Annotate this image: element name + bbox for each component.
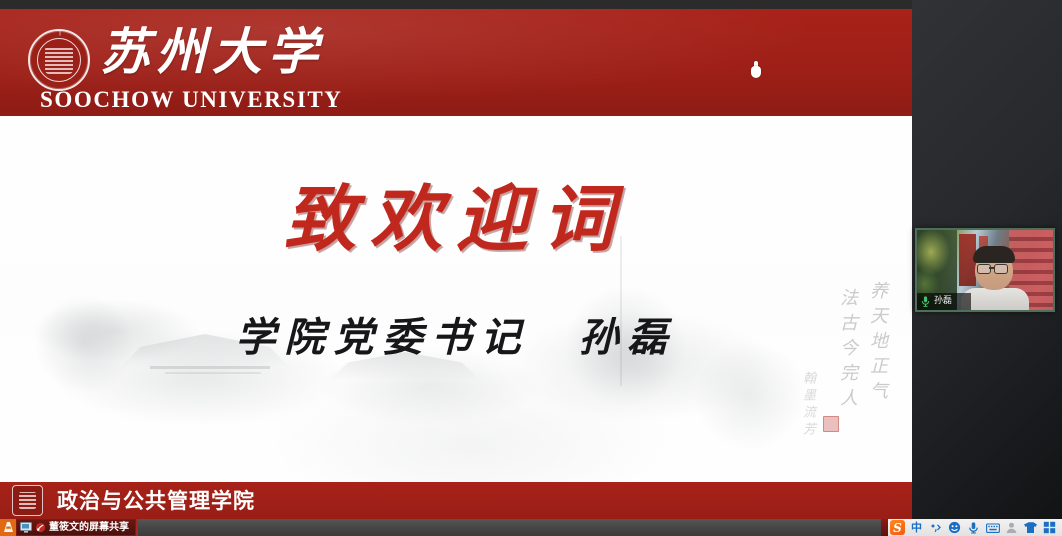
slide-subtitle: 学院党委书记 孙磊 <box>0 312 912 364</box>
user-account-icon[interactable] <box>1002 519 1021 536</box>
university-seal-icon <box>28 29 90 91</box>
eyeglasses-bridge <box>989 267 994 269</box>
participant-name: 孙磊 <box>934 296 952 307</box>
sogou-input-toolbar[interactable]: S 中 <box>888 519 1062 536</box>
sogou-s-logo-icon[interactable]: S <box>888 519 907 536</box>
ink-bridge-line-2 <box>165 372 261 374</box>
hand-pointer-cursor <box>750 61 762 79</box>
ink-bridge-line <box>150 366 270 369</box>
slide-title: 致欢迎词 <box>0 176 912 262</box>
screen-share-meeting-window: 苏州大学 SOOCHOW UNIVERSITY 养天地正气 法古今完人 翰墨流芳… <box>0 0 1062 536</box>
seal-core-glyphs <box>45 46 73 74</box>
slide-footer-band: 政治与公共管理学院 <box>0 482 912 519</box>
tray-left-edge <box>881 519 888 536</box>
eyeglasses-right-lens-icon <box>994 264 1008 274</box>
shared-slide[interactable]: 苏州大学 SOOCHOW UNIVERSITY 养天地正气 法古今完人 翰墨流芳… <box>0 9 912 519</box>
punctuation-mode-icon[interactable] <box>926 519 945 536</box>
microphone-icon <box>920 295 931 308</box>
participant-video-tile[interactable]: 孙磊 <box>915 228 1055 312</box>
eyeglasses-left-lens-icon <box>977 264 991 274</box>
soft-keyboard-icon[interactable] <box>983 519 1002 536</box>
participant-name-chip: 孙磊 <box>917 293 971 310</box>
taskbar-empty-area[interactable] <box>138 519 881 536</box>
college-seal-core <box>19 492 36 509</box>
slide-header-band: 苏州大学 SOOCHOW UNIVERSITY <box>0 9 912 116</box>
taskbar-button-label: 董筱文的屏幕共享 <box>49 522 129 534</box>
vlc-cone-icon[interactable] <box>0 519 16 536</box>
voice-input-icon[interactable] <box>964 519 983 536</box>
toolbox-grid-icon[interactable] <box>1040 519 1059 536</box>
skin-theme-icon[interactable] <box>1021 519 1040 536</box>
windows-taskbar[interactable]: 董筱文的屏幕共享 S 中 <box>0 519 1062 536</box>
emoji-icon[interactable] <box>945 519 964 536</box>
university-english-name: SOOCHOW UNIVERSITY <box>40 87 343 113</box>
taskbar-left-group: 董筱文的屏幕共享 <box>0 519 138 536</box>
red-seal-stamp-icon <box>823 416 839 432</box>
motto-signature: 翰墨流芳 <box>794 371 820 439</box>
chinese-mode-icon[interactable]: 中 <box>907 519 926 536</box>
cursor-palm <box>751 66 761 78</box>
college-name: 政治与公共管理学院 <box>57 488 255 514</box>
slide-body: 养天地正气 法古今完人 翰墨流芳 致欢迎词 学院党委书记 孙磊 <box>0 116 912 482</box>
video-person-torso <box>961 288 1029 312</box>
taskbar-button-screen-share[interactable]: 董筱文的屏幕共享 <box>16 519 136 536</box>
top-edge-strip <box>0 0 912 9</box>
sogou-s-glyph: S <box>890 520 905 535</box>
college-seal-icon <box>12 485 43 516</box>
monitor-share-icon <box>20 522 32 533</box>
screen-share-app-icon <box>35 522 46 533</box>
university-chinese-name: 苏州大学 <box>100 23 324 81</box>
video-person-hair <box>973 246 1015 263</box>
